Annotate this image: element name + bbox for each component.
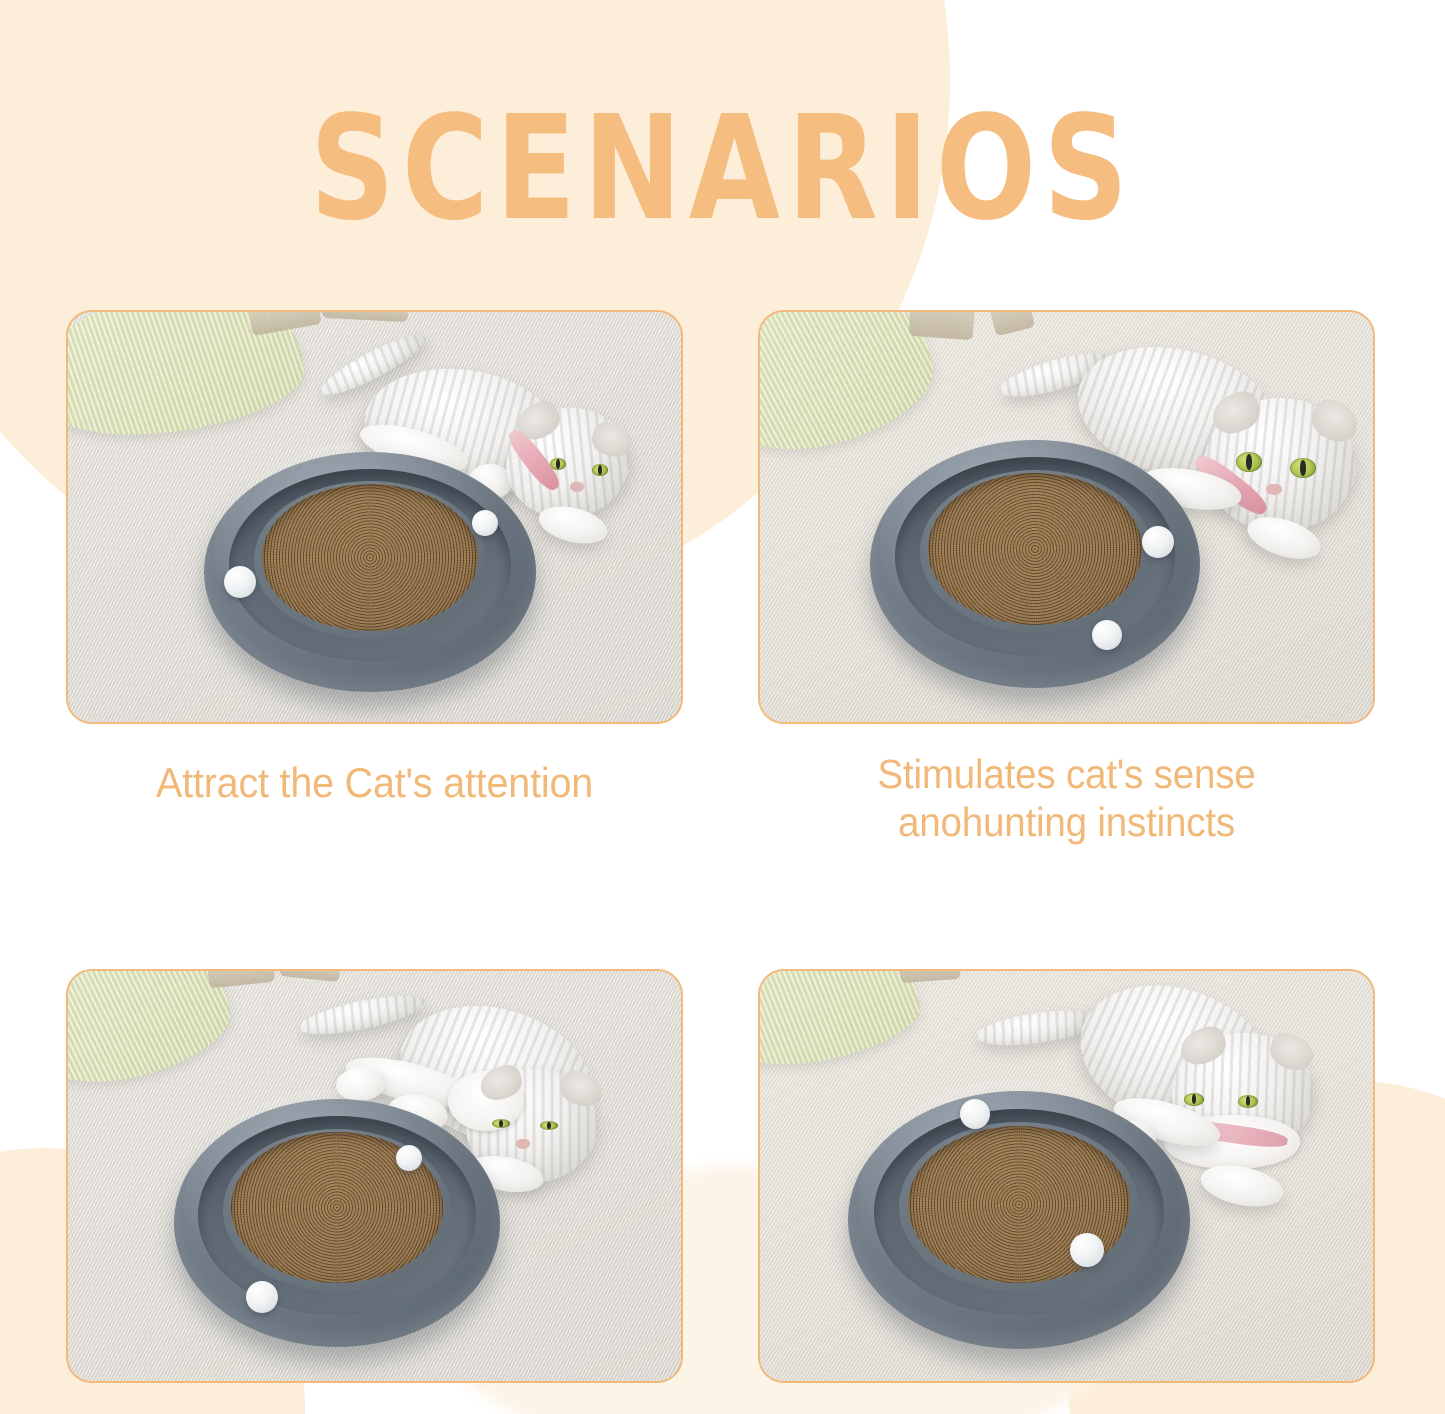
toy-ball (224, 566, 256, 598)
caption-2: Stimulates cat's sense anohunting instin… (777, 750, 1357, 847)
scenario-item-3: Satisfy curiosity (66, 969, 683, 1414)
cat-scratcher-toy-1 (204, 452, 536, 692)
corrugated-scratch-pad (928, 473, 1143, 624)
page-title: SCENARIOS (0, 96, 1445, 240)
cat-eye-right (1238, 1095, 1258, 1108)
toy-ball (472, 510, 498, 536)
cat-eye-right (592, 464, 608, 476)
scenario-row-1: Attract the Cat's attention (66, 310, 1376, 847)
cat-scratcher-toy-2 (870, 440, 1200, 688)
photo-2 (760, 312, 1373, 722)
toy-ball (1092, 620, 1122, 650)
toy-ball (396, 1145, 422, 1171)
infographic-stage: SCENARIOS (0, 0, 1445, 1414)
caption-1: Attract the Cat's attention (85, 758, 665, 808)
cat-nose (516, 1139, 530, 1149)
photo-1 (68, 312, 681, 722)
photo-4 (760, 971, 1373, 1381)
cat-eye-left (1236, 452, 1262, 472)
cat-nose (570, 482, 584, 492)
caption-line: anohunting instincts (777, 798, 1357, 846)
scenario-photo-card-4[interactable] (758, 969, 1375, 1383)
toy-ball (246, 1281, 278, 1313)
scenario-item-1: Attract the Cat's attention (66, 310, 683, 847)
corrugated-scratch-pad (262, 484, 478, 630)
scenario-item-4: Bring more fun to your cat (758, 969, 1375, 1414)
scenario-item-2: Stimulates cat's sense anohunting instin… (758, 310, 1375, 847)
caption-line: Attract the Cat's attention (85, 758, 665, 808)
photo-3 (68, 971, 681, 1381)
scenario-photo-card-3[interactable] (66, 969, 683, 1383)
scenario-photo-card-1[interactable] (66, 310, 683, 724)
caption-line: Stimulates cat's sense (777, 750, 1357, 798)
scenario-row-2: Satisfy curiosity (66, 969, 1376, 1414)
furniture-leg (909, 312, 976, 340)
scenario-photo-card-2[interactable] (758, 310, 1375, 724)
scenario-grid: Attract the Cat's attention (66, 310, 1376, 1414)
toy-ball (1070, 1233, 1104, 1267)
toy-ball (1142, 526, 1174, 558)
cat-nose (1266, 484, 1282, 495)
cat-eye-right (1290, 458, 1316, 478)
cat-eye-right (540, 1121, 558, 1130)
cat-scratcher-toy-3 (174, 1099, 500, 1347)
cat-scratcher-toy-4 (848, 1091, 1190, 1349)
toy-ball (960, 1099, 990, 1129)
